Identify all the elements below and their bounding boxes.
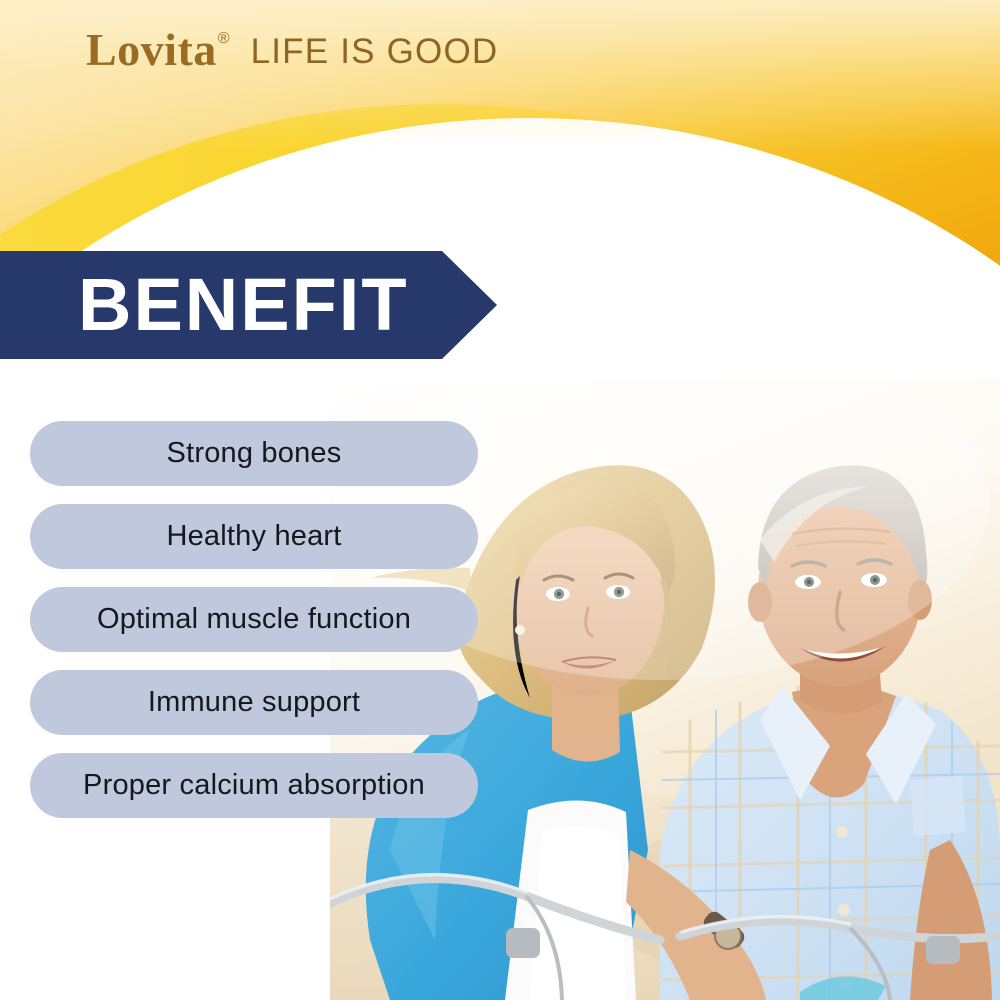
benefit-item-strong-bones: Strong bones [30, 421, 478, 486]
benefit-item-immune-support: Immune support [30, 670, 478, 735]
benefit-item-label: Healthy heart [166, 520, 341, 553]
brand-logo: Lovita® LIFE IS GOOD [86, 27, 498, 73]
benefit-banner-title: BENEFIT [78, 251, 409, 359]
benefit-item-healthy-heart: Healthy heart [30, 504, 478, 569]
product-infographic-page: Lovita® LIFE IS GOOD [0, 0, 1000, 1000]
benefit-item-label: Proper calcium absorption [83, 769, 425, 802]
benefit-list: Strong bones Healthy heart Optimal muscl… [30, 421, 478, 818]
benefit-item-label: Optimal muscle function [97, 603, 411, 636]
registered-trademark-icon: ® [218, 31, 230, 47]
benefit-item-proper-calcium-absorption: Proper calcium absorption [30, 753, 478, 818]
benefit-item-label: Immune support [148, 686, 360, 719]
brand-tagline: LIFE IS GOOD [251, 34, 499, 69]
brand-name: Lovita [86, 27, 217, 73]
benefit-item-optimal-muscle-function: Optimal muscle function [30, 587, 478, 652]
benefit-item-label: Strong bones [167, 437, 342, 470]
